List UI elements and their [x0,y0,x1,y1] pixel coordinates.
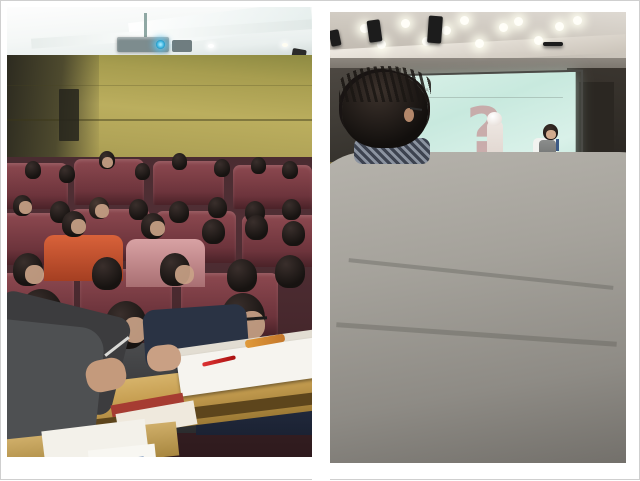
audience-head [59,165,75,183]
downlight-icon [475,39,484,48]
projector-housing [172,40,192,52]
audience-face [19,201,32,214]
audience-head [169,201,189,223]
audience-head [202,219,225,244]
auditorium-seat [233,165,312,209]
presenter-tie [556,139,559,151]
audience-face [25,265,44,284]
audience-head [172,153,187,170]
downlight-icon [573,16,582,25]
ceiling-downlight-icon [282,43,288,47]
collage-gutter [312,1,330,481]
audience-head [227,259,257,292]
audience-head [214,159,230,177]
wall-panel-seam [7,119,312,121]
ceiling-vent-icon [543,42,563,46]
downlight-icon [514,17,523,26]
photo-collage: Q & A ? [0,0,640,480]
downlight-icon [401,19,410,28]
audience-face [71,219,86,234]
audience-face [150,221,165,236]
stage-spotlight-icon [427,16,443,44]
audience-head [245,215,268,240]
spiky-hair [339,66,431,102]
projector-mount-pole [144,13,147,39]
presenter-face [546,130,556,139]
downlight-icon [555,22,564,31]
audience-face [175,265,194,284]
photo-presenter[interactable]: Q & A ? [330,12,626,463]
audience-head [282,199,301,220]
wall-recess [59,89,79,141]
downlight-icon [499,23,508,32]
audience-head [208,197,227,218]
audience-head [251,157,266,174]
audience-head [282,221,305,246]
audience-head [275,255,305,288]
wall-panel-seam [7,85,312,86]
foreground-person-sweater [330,152,626,463]
photo-audience[interactable] [7,7,312,457]
audience-head [25,161,41,179]
presentation-scene: Q & A ? [330,12,626,463]
audience-head [135,163,150,180]
audience-head [92,257,122,290]
audience-face [102,157,113,168]
ear [404,108,414,122]
audience-head [282,161,298,179]
audience-scene [7,7,312,457]
